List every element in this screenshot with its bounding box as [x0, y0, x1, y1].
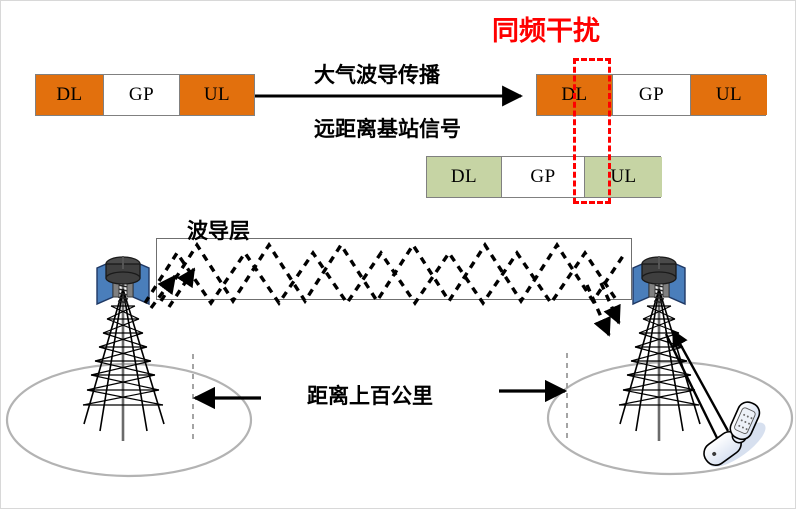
antenna-panel-right-b: [669, 261, 685, 304]
handset-device: [690, 392, 779, 474]
uplink-ray: [666, 331, 728, 438]
label-distance-hundreds-km: 距离上百公里: [307, 380, 433, 410]
antenna-panel-left-a: [97, 261, 113, 304]
frame-cell-dl: DL: [427, 157, 502, 197]
antenna-panel-left-b: [133, 261, 149, 304]
antenna-panel-right-a: [633, 261, 649, 304]
title-co-channel-interference: 同频干扰: [492, 9, 600, 48]
cell-tower-left: [83, 256, 164, 441]
frame-cell-gp: GP: [104, 75, 180, 115]
interference-highlight-box: [573, 58, 611, 204]
label-duct-propagation: 大气波导传播: [314, 59, 440, 89]
coverage-ellipse-left: [7, 364, 251, 476]
frame-local-orange: DL GP UL: [35, 74, 255, 116]
label-long-distance-signal: 远距离基站信号: [314, 113, 461, 143]
frame-cell-dl: DL: [36, 75, 104, 115]
frame-remote-orange: DL GP UL: [536, 74, 766, 116]
frame-victim-green: DL GP UL: [426, 156, 661, 198]
frame-cell-gp: GP: [613, 75, 691, 115]
label-waveguide-layer: 波导层: [187, 215, 250, 245]
coverage-ellipse-right: [548, 362, 792, 474]
waveguide-layer-box: [156, 238, 632, 300]
diagram-canvas: DL GP UL DL GP UL DL GP UL 同频干扰 大气波导传播 远…: [0, 0, 796, 509]
frame-cell-ul: UL: [691, 75, 767, 115]
frame-cell-ul: UL: [180, 75, 254, 115]
